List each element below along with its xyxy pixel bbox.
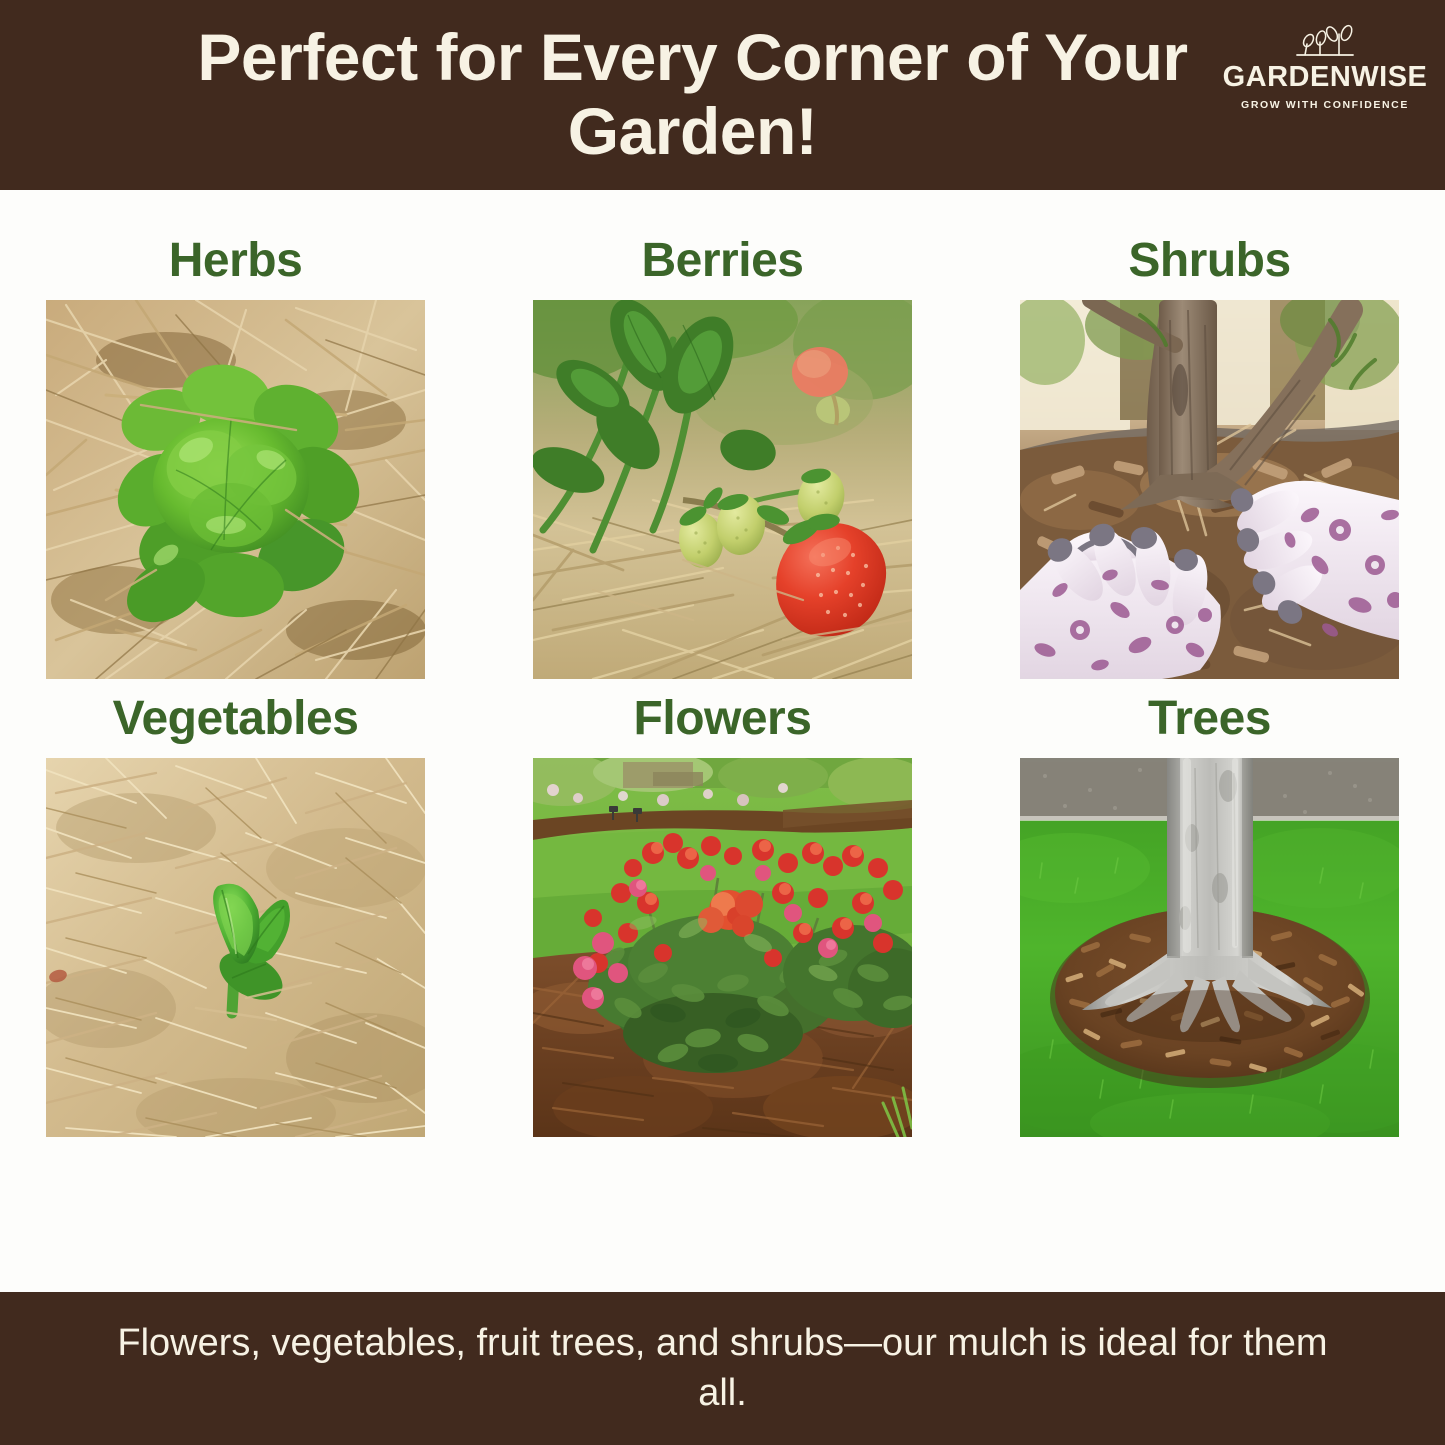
category-cell-berries: Berries xyxy=(533,222,912,680)
footer-banner: Flowers, vegetables, fruit trees, and sh… xyxy=(0,1292,1445,1445)
category-label-shrubs: Shrubs xyxy=(1128,222,1290,300)
gloved-hands-spreading-bark-mulch-around-shrub-photo xyxy=(1020,300,1399,679)
promo-infographic: Perfect for Every Corner of Your Garden! xyxy=(0,0,1445,1445)
red-rose-bushes-in-mulched-bed-photo xyxy=(533,758,912,1137)
category-cell-shrubs: Shrubs xyxy=(1020,222,1399,680)
category-cell-trees: Trees xyxy=(1020,680,1399,1138)
tree-trunk-with-mulch-ring-on-lawn-photo xyxy=(1020,758,1399,1137)
footer-text: Flowers, vegetables, fruit trees, and sh… xyxy=(98,1319,1348,1418)
vegetable-seedling-in-straw-mulch-photo xyxy=(46,758,425,1137)
logo-wordmark: GARDENWISE xyxy=(1223,63,1428,92)
strawberry-plant-on-straw-mulch-photo xyxy=(533,300,912,679)
page-title: Perfect for Every Corner of Your Garden! xyxy=(193,21,1193,169)
category-cell-herbs: Herbs xyxy=(46,222,425,680)
category-cell-flowers: Flowers xyxy=(533,680,912,1138)
category-label-herbs: Herbs xyxy=(169,222,303,300)
category-label-flowers: Flowers xyxy=(634,680,812,758)
category-label-trees: Trees xyxy=(1148,680,1271,758)
category-cell-vegetables: Vegetables xyxy=(46,680,425,1138)
seedling-sprouts-icon xyxy=(1289,22,1361,62)
herb-plant-in-pine-straw-mulch-photo xyxy=(46,300,425,679)
category-grid-area: Herbs xyxy=(0,190,1445,1292)
header-banner: Perfect for Every Corner of Your Garden! xyxy=(0,0,1445,190)
logo-tagline: GROW WITH CONFIDENCE xyxy=(1241,99,1409,111)
brand-logo: GARDENWISE GROW WITH CONFIDENCE xyxy=(1225,22,1425,111)
category-label-berries: Berries xyxy=(642,222,804,300)
category-label-vegetables: Vegetables xyxy=(113,680,359,758)
category-grid: Herbs xyxy=(46,222,1398,1138)
